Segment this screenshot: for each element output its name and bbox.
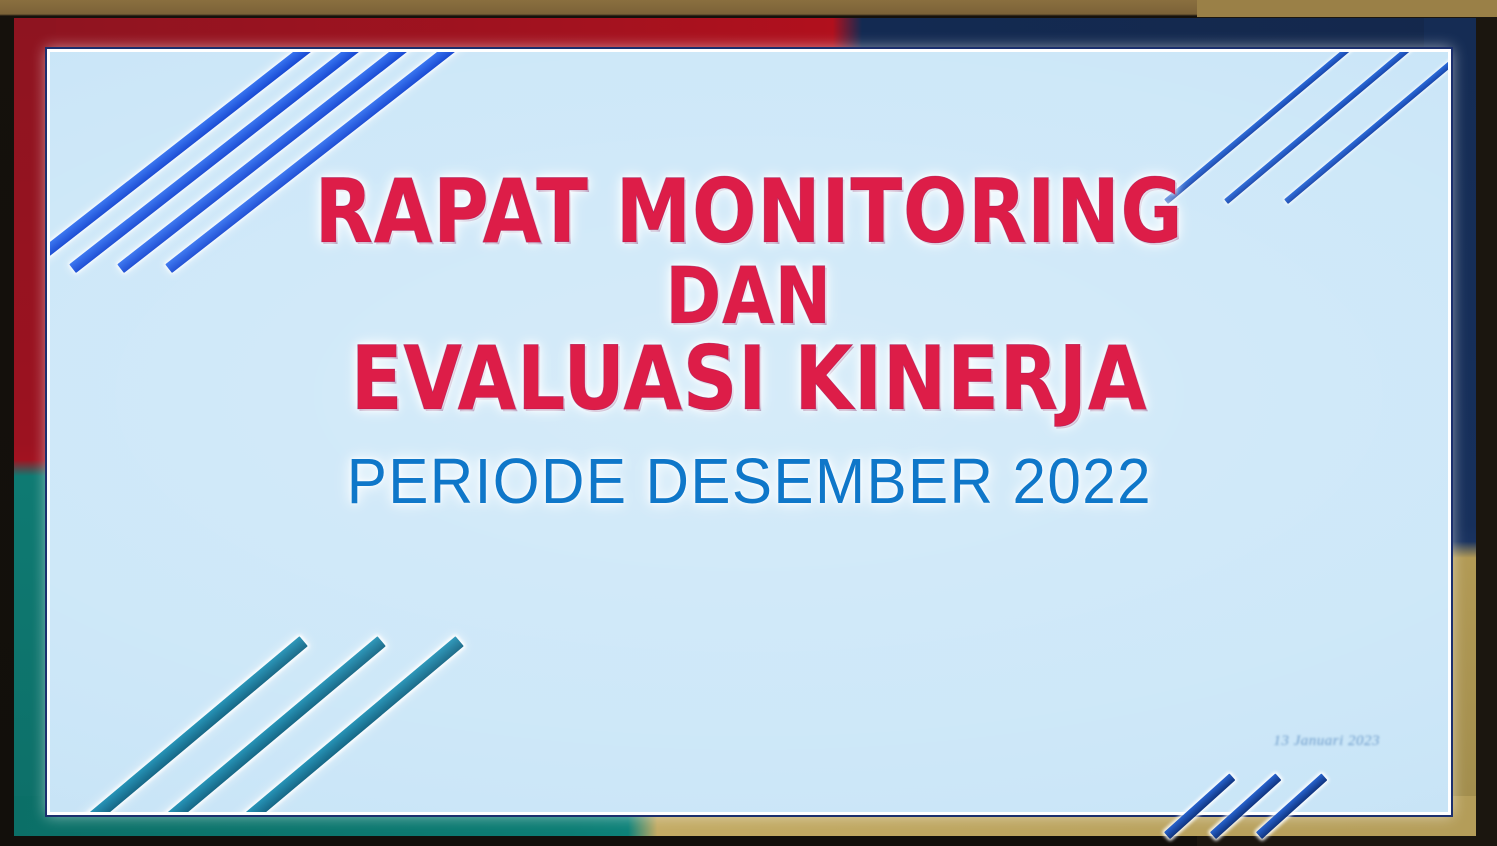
slide-content: RAPAT MONITORING DAN EVALUASI KINERJA PE… [50, 52, 1448, 812]
slide-title-line-1: RAPAT MONITORING [315, 170, 1184, 254]
slide-title-line-3: EVALUASI KINERJA [351, 337, 1148, 421]
slide-title-line-2: DAN [666, 260, 832, 335]
slide-footnote-date: 13 Januari 2023 [1273, 733, 1380, 750]
slide-subtitle-period: PERIODE DESEMBER 2022 [346, 444, 1151, 518]
projection-scene: RAPAT MONITORING DAN EVALUASI KINERJA PE… [0, 0, 1497, 846]
presentation-slide: RAPAT MONITORING DAN EVALUASI KINERJA PE… [50, 52, 1448, 812]
